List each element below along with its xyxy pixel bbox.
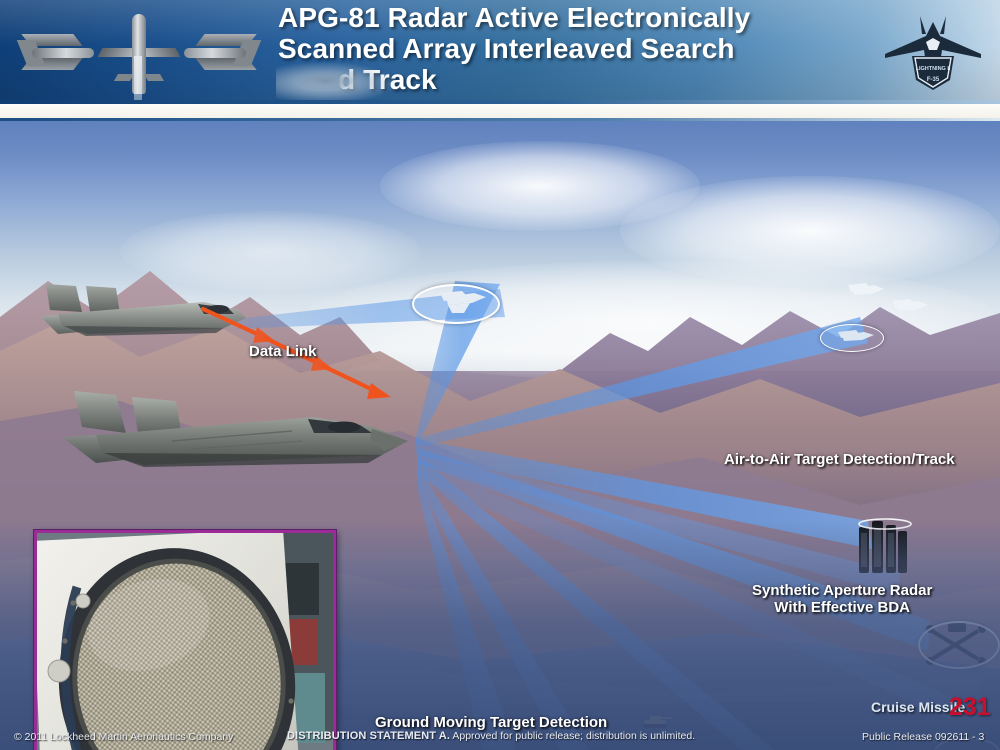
label-air-to-air: Air-to-Air Target Detection/Track: [724, 451, 955, 468]
target-ring-air-near: [412, 284, 500, 324]
label-data-link: Data Link: [249, 343, 317, 360]
title-line-2: Scanned Array Interleaved Search: [278, 33, 878, 64]
header-white-band: [0, 104, 1000, 118]
label-sar-line2: With Effective BDA: [752, 599, 932, 616]
aesa-antenna-inset: [34, 530, 336, 750]
formation-aircraft-group: [790, 283, 950, 339]
slide-root: APG-81 Radar Active Electronically Scann…: [0, 0, 1000, 750]
slide-header: APG-81 Radar Active Electronically Scann…: [0, 0, 1000, 100]
header-jet-left: [12, 28, 108, 80]
f-35-lightning-ii-logo: LIGHTNING II F-35: [882, 8, 984, 94]
logo-text-main: LIGHTNING II: [916, 66, 951, 72]
label-synthetic-aperture-radar: Synthetic Aperture Radar With Effective …: [752, 582, 932, 616]
footer-public-release: Public Release 092611 - 3: [862, 731, 984, 743]
header-jet-right: [170, 28, 266, 80]
title-line-1: APG-81 Radar Active Electronically: [278, 2, 878, 33]
header-smoke-core: [296, 72, 354, 90]
title-line-3: d Track: [278, 64, 878, 95]
footer-distribution-bold: DISTRIBUTION STATEMENT A.: [287, 730, 450, 742]
footer-distribution-statement: DISTRIBUTION STATEMENT A. Approved for p…: [287, 730, 695, 742]
jet-contrail: [134, 56, 142, 100]
page-number: 231: [949, 693, 991, 722]
footer-copyright: © 2011 Lockheed Martin Aeronautics Compa…: [14, 731, 233, 743]
aesa-antenna-array-photo: [37, 533, 333, 750]
data-link-arrow: [195, 301, 425, 431]
footer-distribution-rest: Approved for public release; distributio…: [450, 730, 695, 742]
header-jets-photo: [8, 6, 266, 98]
label-ground-moving-target: Ground Moving Target Detection: [375, 714, 607, 731]
scene-illustration: Data Link: [0, 121, 1000, 750]
label-sar-line1: Synthetic Aperture Radar: [752, 582, 932, 599]
logo-text-sub: F-35: [927, 77, 940, 83]
slide-title: APG-81 Radar Active Electronically Scann…: [278, 2, 878, 95]
